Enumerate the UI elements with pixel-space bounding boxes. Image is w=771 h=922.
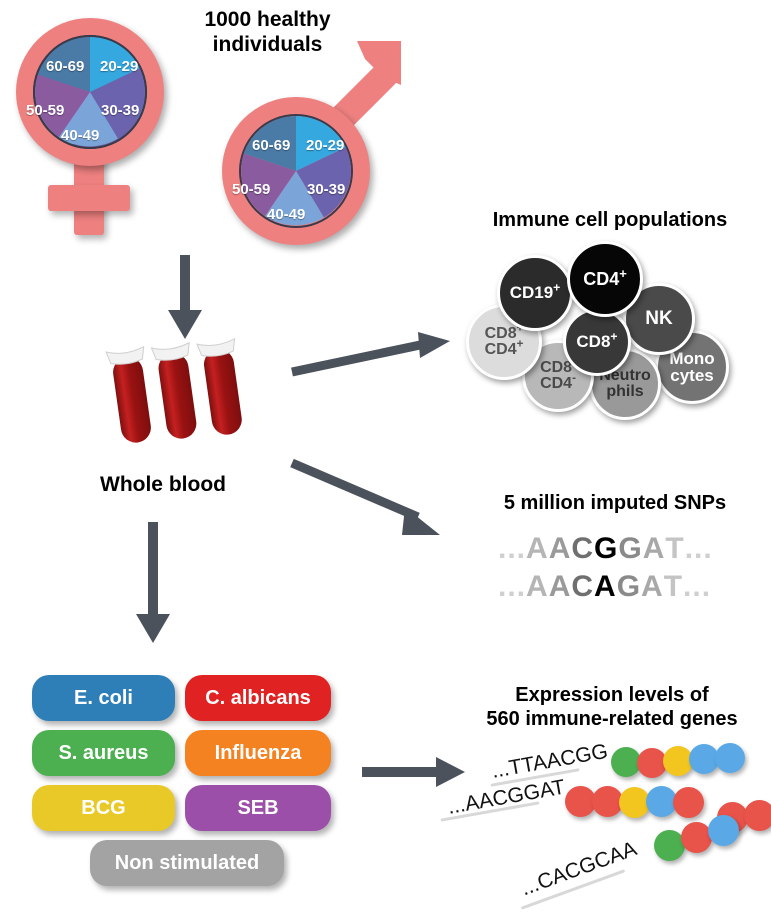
snp-row2-suffix: ... [683,570,711,604]
snp-row1-base-1: A [549,532,572,566]
expression-heading: Expression levels of 560 immune-related … [453,684,771,731]
whole-blood-label: Whole blood [78,473,248,498]
snp-row1-base-0: A [526,532,549,566]
immune-cell-nk: NK [623,283,695,355]
arrow-stimulations-to-expression [362,752,467,792]
female-pie-label-20-29: 20-29 [100,58,138,75]
stimulation-label-s-aureus: S. aureus [58,742,148,765]
immune-cell-cd8-neg-cd4-neg: CD8-CD4- [522,340,594,412]
snp-row2-base-4: G [617,570,641,604]
immune-cell-cd8: CD8+ [563,308,631,376]
male-pie-label-20-29: 20-29 [306,137,344,154]
snp-row1-suffix: ... [685,532,713,566]
arrow-down-right-icon [290,455,455,545]
arrow-down-icon [160,255,210,340]
blood-tubes [95,335,265,465]
stimulation-box-seb[interactable]: SEB [185,785,331,831]
immune-cell-cd19: CD19+ [497,255,573,331]
snps-heading: 5 million imputed SNPs [460,492,770,516]
snp-row2-base-2: C [571,570,594,604]
immune-cell-neutrophils: Neutrophils [589,348,661,420]
immune-cell-cd8-neg-cd4-neg-label: CD8-CD4- [540,360,576,393]
figure-canvas: 1000 healthy individuals [0,0,771,922]
stimulation-box-non-stimulated[interactable]: Non stimulated [90,840,284,886]
immune-cell-monocytes-label: Monocytes [669,350,714,385]
stimulation-label-seb: SEB [237,797,278,820]
immune-cell-neutrophils-label: Neutrophils [599,368,651,401]
gene-strand-1-bead-4 [715,743,745,773]
snp-row1-prefix: ... [498,532,526,566]
stimulation-label-non-stimulated: Non stimulated [115,852,259,875]
male-pie-label-40-49: 40-49 [267,206,305,223]
stimulation-box-s-aureus[interactable]: S. aureus [32,730,175,776]
male-pie-label-30-39: 30-39 [307,181,345,198]
female-symbol: 20-29 30-39 40-49 50-59 60-69 [8,10,188,240]
snp-sequence-row-1: ...AACGGAT... [498,532,713,566]
male-pie-label-60-69: 60-69 [252,137,290,154]
female-crossbar [48,185,130,211]
arrow-up-right-icon [290,330,455,380]
snp-row1-base-3: G [594,532,618,566]
stimulation-label-c-albicans: C. albicans [205,687,311,710]
stimulation-label-e-coli: E. coli [74,687,133,710]
female-pie-label-40-49: 40-49 [61,127,99,144]
snp-sequence-row-2: ...AACAGAT... [498,570,711,604]
snp-row2-base-5: A [641,570,664,604]
male-pie-label-50-59: 50-59 [232,181,270,198]
gene-strands: ...TTAACGG ...AACGGAT ...CACGCAA [470,740,771,910]
immune-cell-cd4-label: CD4+ [583,270,627,288]
stimulation-box-e-coli[interactable]: E. coli [32,675,175,721]
arrow-down-icon-2 [128,522,178,644]
stimulation-box-c-albicans[interactable]: C. albicans [185,675,331,721]
expression-heading-line1: Expression levels of [453,684,771,708]
immune-cell-nk-label: NK [645,309,672,328]
immune-heading: Immune cell populations [455,209,765,233]
immune-cell-cd8-pos-cd4-pos-label: CD8+CD4+ [485,326,524,359]
arrow-blood-to-immune [290,330,455,380]
gene-strand-3-bead-2 [708,815,739,846]
snp-row1-base-6: T [665,532,684,566]
snp-row1-base-4: G [618,532,642,566]
snp-row2-base-0: A [526,570,549,604]
stimulation-box-bcg[interactable]: BCG [32,785,175,831]
immune-cell-cd4: CD4+ [567,241,643,317]
arrow-cohort-to-blood [160,255,210,340]
female-pie-label-30-39: 30-39 [101,102,139,119]
arrow-blood-to-snps [290,455,455,545]
expression-heading-line2: 560 immune-related genes [453,708,771,732]
arrow-right-icon [362,752,467,792]
snp-row2-base-3: A [594,570,617,604]
cohort-heading-line1: 1000 healthy [175,8,360,33]
stimulation-box-influenza[interactable]: Influenza [185,730,331,776]
snp-row2-base-1: A [549,570,572,604]
gene-strand-2-bead-4 [673,787,704,818]
snp-row2-base-6: T [664,570,683,604]
snp-row2-prefix: ... [498,570,526,604]
immune-cell-cd8-label: CD8+ [576,333,617,350]
snp-row1-base-5: A [643,532,666,566]
snp-row1-base-2: C [571,532,594,566]
immune-cell-cd19-label: CD19+ [510,284,561,301]
female-pie-label-50-59: 50-59 [26,102,64,119]
stimulation-label-bcg: BCG [81,797,125,820]
blood-tubes-svg [95,335,265,465]
gene-strand-2-bead-6 [744,800,771,831]
immune-cell-monocytes: Monocytes [655,330,729,404]
male-symbol: 20-29 30-39 40-49 50-59 60-69 [205,35,405,250]
immune-cell-cd8-pos-cd4-pos: CD8+CD4+ [466,304,542,380]
arrow-blood-to-stimulations [128,522,178,644]
female-pie-label-60-69: 60-69 [46,58,84,75]
stimulation-label-influenza: Influenza [215,742,302,765]
